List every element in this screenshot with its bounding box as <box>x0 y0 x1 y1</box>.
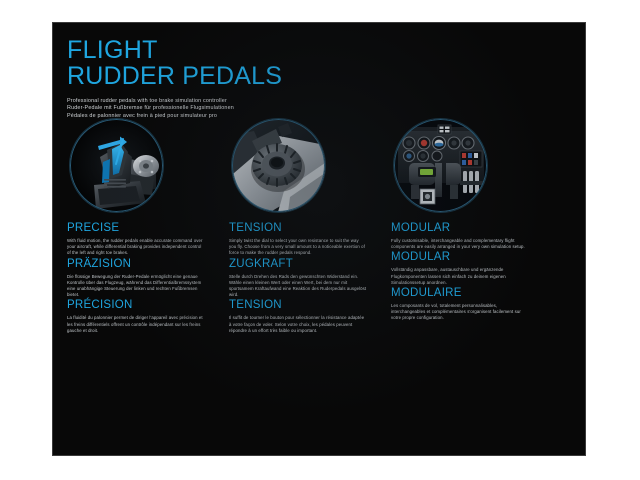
feature-1-body-de: Die flüssige Bewegung der Ruder-Pedale e… <box>67 274 205 299</box>
feature-1-en: PRECISE With fluid motion, the rudder pe… <box>67 222 209 257</box>
feature-3-fr: MODULAIRE Les composants de vol, totalem… <box>391 287 533 322</box>
product-keyart-page: FLIGHT RUDDER PEDALS Professional rudder… <box>0 0 640 480</box>
feature-2-heading-en: TENSION <box>229 222 371 235</box>
headline-block: FLIGHT RUDDER PEDALS Professional rudder… <box>67 37 527 120</box>
feature-2-fr: TENSION Il suffit de tourner le bouton p… <box>229 299 371 334</box>
rudder-pedal-toe-brake-photo <box>70 119 163 212</box>
feature-1-body-fr: La fluidité du palonnier permet de dirig… <box>67 315 205 334</box>
feature-1-fr: PRÉCISION La fluidité du palonnier perme… <box>67 299 209 334</box>
feature-2-de: ZUGKRAFT Stelle durch Drehen des Rads de… <box>229 258 371 299</box>
subtitle-en: Professional rudder pedals with toe brak… <box>67 98 527 105</box>
feature-column-tension: TENSION Simply twist the dial to select … <box>229 119 371 335</box>
feature-3-heading-fr: MODULAIRE <box>391 287 533 300</box>
feature-column-modular: MODULAR Fully customisable, interchangea… <box>391 119 533 335</box>
subtitle-de: Ruder-Pedale mit Fußbremse für professio… <box>67 105 527 112</box>
feature-1-heading-de: PRÄZISION <box>67 258 209 271</box>
page-title-line-2: RUDDER PEDALS <box>67 63 527 89</box>
feature-3-body-fr: Les composants de vol, totalement person… <box>391 303 529 322</box>
feature-3-body-en: Fully customisable, interchangeable and … <box>391 238 529 250</box>
feature-2-body-de: Stelle durch Drehen des Rads den gewünsc… <box>229 274 367 299</box>
feature-3-de: MODULAR Vollständig anpassbare, austausc… <box>391 251 533 286</box>
feature-3-heading-en: MODULAR <box>391 222 533 235</box>
feature-2-body-en: Simply twist the dial to select your own… <box>229 238 367 257</box>
page-title-line-1: FLIGHT <box>67 37 527 63</box>
feature-column-precise: PRECISE With fluid motion, the rudder pe… <box>67 119 209 335</box>
subtitle-block: Professional rudder pedals with toe brak… <box>67 98 527 120</box>
feature-3-en: MODULAR Fully customisable, interchangea… <box>391 222 533 250</box>
feature-2-heading-de: ZUGKRAFT <box>229 258 371 271</box>
feature-1-heading-fr: PRÉCISION <box>67 299 209 312</box>
feature-1-de: PRÄZISION Die flüssige Bewegung der Rude… <box>67 258 209 299</box>
feature-columns: PRECISE With fluid motion, the rudder pe… <box>53 119 586 335</box>
feature-2-heading-fr: TENSION <box>229 299 371 312</box>
feature-1-body-en: With fluid motion, the rudder pedals ena… <box>67 238 205 257</box>
product-panel: FLIGHT RUDDER PEDALS Professional rudder… <box>52 22 586 456</box>
feature-2-body-fr: Il suffit de tourner le bouton pour séle… <box>229 315 367 334</box>
feature-3-body-de: Vollständig anpassbare, austauschbare un… <box>391 267 529 286</box>
feature-2-en: TENSION Simply twist the dial to select … <box>229 222 371 257</box>
tension-adjustment-dial-photo <box>232 119 325 212</box>
modular-flight-simulator-setup-photo <box>394 119 487 212</box>
feature-1-heading-en: PRECISE <box>67 222 209 235</box>
feature-3-heading-de: MODULAR <box>391 251 533 264</box>
